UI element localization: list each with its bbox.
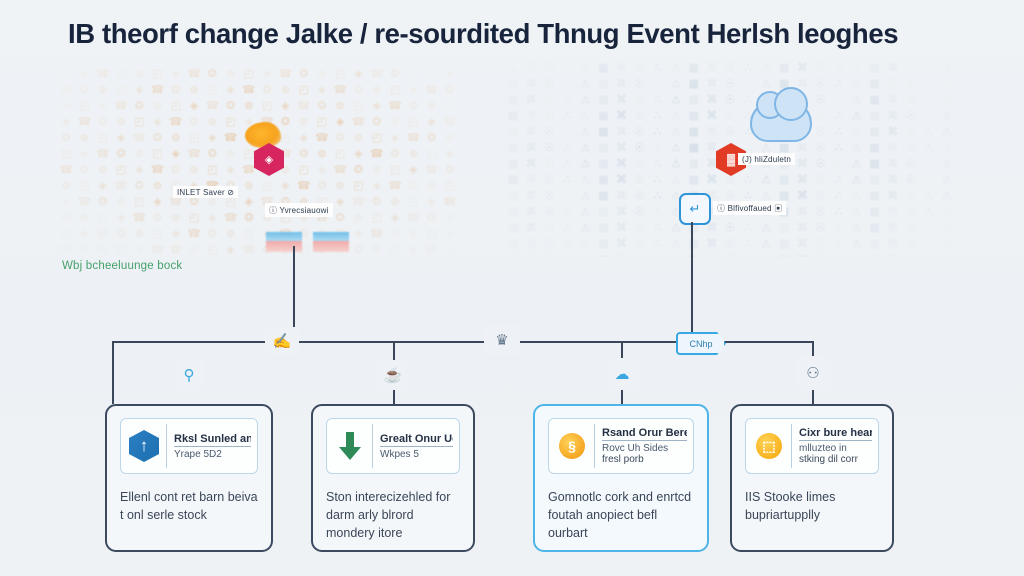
card-1[interactable]: ↑ Rksl Sunled an Yrape 5D2 Ellenl cont r… bbox=[105, 404, 273, 552]
card-1-header: ↑ Rksl Sunled an Yrape 5D2 bbox=[120, 418, 258, 474]
card-3-body: Gomnotlc cork and enrtcd foutah anopiect… bbox=[548, 488, 694, 542]
blue-up-arrow-icon: ↑ bbox=[127, 424, 161, 468]
card-1-header-text: Rksl Sunled an Yrape 5D2 bbox=[166, 424, 251, 468]
card-1-body: Ellenl cont ret barn beiva t onl serle s… bbox=[120, 488, 258, 524]
cluster-label-blfivo: ⓘ Blfivoffaued ▣ bbox=[713, 201, 786, 215]
cloud-shape-icon bbox=[750, 100, 812, 142]
card-3-subtitle: Rovc Uh Sides bbox=[602, 443, 687, 454]
green-down-arrow-icon bbox=[333, 424, 367, 468]
globe-icon: ⚇ bbox=[796, 356, 830, 390]
card-2-title: Grealt Onur Uee bbox=[380, 433, 453, 447]
page-title: IB theorf change Jalke / re-sourdited Th… bbox=[68, 18, 968, 50]
card-2[interactable]: Grealt Onur Uee Wkpes 5 Ston interecizeh… bbox=[311, 404, 475, 552]
card-4[interactable]: ⬚ Cixr bure heare mlluzteo in stking dil… bbox=[730, 404, 894, 552]
connector-drop-1 bbox=[112, 341, 114, 404]
cnhp-tag[interactable]: CNhp bbox=[676, 332, 726, 355]
card-2-header-text: Grealt Onur Uee Wkpes 5 bbox=[372, 424, 453, 468]
doc-hand-icon: ✍ bbox=[265, 327, 299, 355]
connector-right-trunk bbox=[691, 222, 693, 342]
orange-blob-icon bbox=[245, 122, 281, 148]
card-3-subtitle-2: fresl porb bbox=[602, 454, 687, 465]
card-4-header-text: Cixr bure heare mlluzteo in stking dil c… bbox=[791, 424, 872, 468]
rounded-square-icon: ↵ bbox=[679, 193, 711, 225]
card-3-title: Rsand Orur Beret bbox=[602, 427, 687, 441]
card-1-title: Rksl Sunled an bbox=[174, 433, 251, 447]
green-note-text: Wbj bcheeluunge bock bbox=[62, 260, 182, 272]
crown-icon: ♛ bbox=[484, 325, 520, 355]
cluster-label-hlz: (J) hliZduletn bbox=[738, 153, 795, 165]
card-4-header: ⬚ Cixr bure heare mlluzteo in stking dil… bbox=[745, 418, 879, 474]
card-4-body: IIS Stooke limes bupriartupplly bbox=[745, 488, 879, 524]
card-3[interactable]: § Rsand Orur Beret Rovc Uh Sides fresl p… bbox=[533, 404, 709, 552]
hex-badge-pink-icon: ◈ bbox=[254, 143, 284, 176]
cloud-node-icon: ☁ bbox=[606, 358, 638, 390]
sketch-person-icon: ⚲ bbox=[174, 360, 204, 390]
cup-icon: ☕ bbox=[378, 360, 408, 390]
orange-circle-icon: ⬚ bbox=[752, 424, 786, 468]
card-3-header: § Rsand Orur Beret Rovc Uh Sides fresl p… bbox=[548, 418, 694, 474]
gold-coin-icon: § bbox=[555, 424, 589, 468]
thumbnail-b bbox=[313, 232, 349, 252]
card-1-subtitle: Yrape 5D2 bbox=[174, 449, 251, 460]
diagram-canvas: IB theorf change Jalke / re-sourdited Th… bbox=[0, 0, 1024, 576]
card-2-body: Ston interecizehled for darm arly blrord… bbox=[326, 488, 460, 542]
card-3-header-text: Rsand Orur Beret Rovc Uh Sides fresl por… bbox=[594, 424, 687, 468]
cluster-label-vrec: ⓘ Yvrecsiauowi bbox=[265, 203, 333, 217]
card-4-title: Cixr bure heare bbox=[799, 427, 872, 441]
cluster-label-inlet: INLET Saver ⊘ bbox=[173, 186, 238, 198]
card-4-subtitle-2: stking dil corr bbox=[799, 454, 872, 465]
card-2-header: Grealt Onur Uee Wkpes 5 bbox=[326, 418, 460, 474]
card-4-subtitle: mlluzteo in bbox=[799, 443, 872, 454]
card-2-subtitle: Wkpes 5 bbox=[380, 449, 453, 460]
thumbnail-a bbox=[266, 232, 302, 252]
